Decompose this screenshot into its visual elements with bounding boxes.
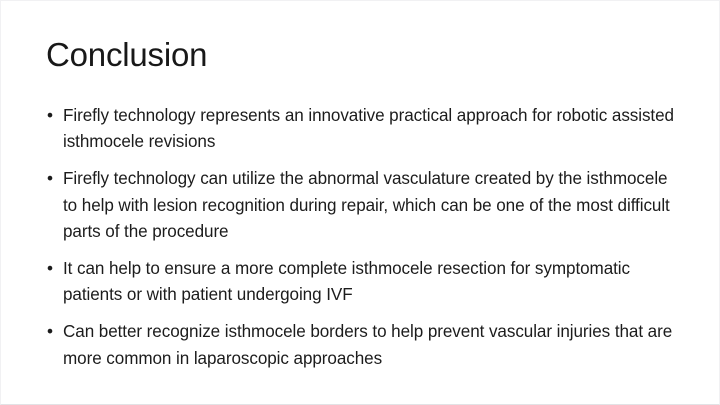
- bullet-point-icon: •: [47, 319, 53, 345]
- list-item-text: Firefly technology can utilize the abnor…: [63, 166, 679, 245]
- bullet-point-icon: •: [47, 256, 53, 282]
- presentation-slide: Conclusion • Firefly technology represen…: [0, 0, 720, 405]
- list-item-text: Can better recognize isthmocele borders …: [63, 319, 679, 371]
- list-item: • Firefly technology can utilize the abn…: [45, 166, 679, 245]
- list-item: • Firefly technology represents an innov…: [45, 103, 679, 155]
- bullet-point-icon: •: [47, 103, 53, 129]
- list-item-text: It can help to ensure a more complete is…: [63, 256, 679, 308]
- page-title: Conclusion: [46, 34, 207, 76]
- list-item: • Can better recognize isthmocele border…: [45, 319, 679, 371]
- list-item-text: Firefly technology represents an innovat…: [63, 103, 679, 155]
- bullet-point-icon: •: [47, 166, 53, 192]
- bullet-list: • Firefly technology represents an innov…: [45, 103, 679, 372]
- list-item: • It can help to ensure a more complete …: [45, 256, 679, 308]
